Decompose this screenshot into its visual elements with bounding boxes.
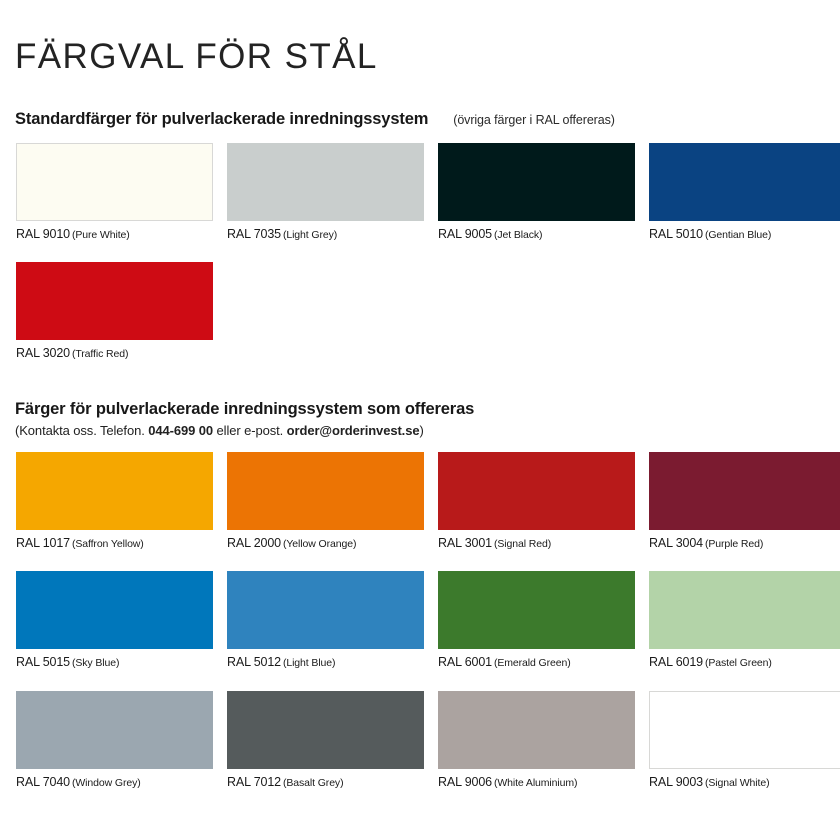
swatch-color-name: (Window Grey): [72, 777, 141, 789]
swatch-label: RAL 7035(Light Grey): [227, 225, 424, 243]
swatch-color-name: (Signal White): [705, 777, 770, 789]
swatch-code: RAL 5010: [649, 227, 703, 241]
swatch-cell[interactable]: RAL 3004(Purple Red): [649, 452, 840, 552]
color-swatch[interactable]: [16, 571, 213, 649]
color-swatch[interactable]: [649, 452, 840, 530]
swatch-cell[interactable]: RAL 6019(Pastel Green): [649, 571, 840, 671]
swatch-code: RAL 9005: [438, 227, 492, 241]
color-chart-page: FÄRGVAL FÖR STÅL Standardfärger för pulv…: [0, 0, 840, 840]
swatch-label: RAL 7040(Window Grey): [16, 773, 213, 791]
swatch-color-name: (Yellow Orange): [283, 538, 356, 550]
swatch-label: RAL 7012(Basalt Grey): [227, 773, 424, 791]
page-title: FÄRGVAL FÖR STÅL: [12, 0, 828, 77]
swatch-cell[interactable]: RAL 1017(Saffron Yellow): [16, 452, 213, 552]
swatch-cell[interactable]: RAL 3001(Signal Red): [438, 452, 635, 552]
swatch-label: RAL 5012(Light Blue): [227, 653, 424, 671]
swatch-label: RAL 9006(White Aluminium): [438, 773, 635, 791]
swatch-color-name: (Light Blue): [283, 657, 336, 669]
color-swatch[interactable]: [16, 262, 213, 340]
swatch-cell[interactable]: RAL 5015(Sky Blue): [16, 571, 213, 671]
standard-section-header: Standardfärger för pulverlackerade inred…: [15, 110, 828, 129]
swatch-color-name: (Sky Blue): [72, 657, 119, 669]
color-swatch[interactable]: [438, 571, 635, 649]
swatch-cell[interactable]: RAL 3020(Traffic Red): [16, 262, 213, 362]
swatch-label: RAL 2000(Yellow Orange): [227, 534, 424, 552]
swatch-cell[interactable]: RAL 7035(Light Grey): [227, 143, 424, 243]
contact-phone[interactable]: 044-699 00: [148, 423, 213, 438]
contact-middle-text: eller e-post.: [217, 423, 284, 438]
color-swatch[interactable]: [16, 691, 213, 769]
color-swatch[interactable]: [438, 452, 635, 530]
contact-line: (Kontakta oss. Telefon. 044-699 00 eller…: [15, 423, 828, 438]
color-swatch[interactable]: [649, 571, 840, 649]
swatch-color-name: (Basalt Grey): [283, 777, 344, 789]
standard-section-title: Standardfärger för pulverlackerade inred…: [15, 110, 428, 129]
color-swatch[interactable]: [227, 691, 424, 769]
swatch-cell[interactable]: RAL 9006(White Aluminium): [438, 691, 635, 791]
swatch-cell[interactable]: RAL 2000(Yellow Orange): [227, 452, 424, 552]
color-swatch[interactable]: [649, 691, 840, 769]
swatch-color-name: (Jet Black): [494, 229, 543, 241]
swatch-code: RAL 7040: [16, 775, 70, 789]
swatch-cell[interactable]: RAL 5010(Gentian Blue): [649, 143, 840, 243]
swatch-color-name: (Saffron Yellow): [72, 538, 144, 550]
swatch-cell[interactable]: RAL 9003(Signal White): [649, 691, 840, 791]
swatch-label: RAL 1017(Saffron Yellow): [16, 534, 213, 552]
swatch-label: RAL 5015(Sky Blue): [16, 653, 213, 671]
swatch-label: RAL 3001(Signal Red): [438, 534, 635, 552]
swatch-label: RAL 6001(Emerald Green): [438, 653, 635, 671]
swatch-code: RAL 6019: [649, 655, 703, 669]
swatch-cell[interactable]: RAL 9005(Jet Black): [438, 143, 635, 243]
swatch-color-name: (Light Grey): [283, 229, 337, 241]
swatch-cell[interactable]: RAL 5012(Light Blue): [227, 571, 424, 671]
swatch-code: RAL 3001: [438, 536, 492, 550]
swatch-cell[interactable]: RAL 7012(Basalt Grey): [227, 691, 424, 791]
swatch-code: RAL 9006: [438, 775, 492, 789]
swatch-color-name: (Signal Red): [494, 538, 551, 550]
color-swatch[interactable]: [438, 691, 635, 769]
swatch-code: RAL 7035: [227, 227, 281, 241]
swatch-code: RAL 5015: [16, 655, 70, 669]
contact-email[interactable]: order@orderinvest.se: [287, 423, 420, 438]
swatch-color-name: (Pastel Green): [705, 657, 772, 669]
color-swatch[interactable]: [649, 143, 840, 221]
swatch-label: RAL 9010(Pure White): [16, 225, 213, 243]
swatch-label: RAL 9005(Jet Black): [438, 225, 635, 243]
color-swatch[interactable]: [16, 143, 213, 221]
swatch-label: RAL 3004(Purple Red): [649, 534, 840, 552]
color-swatch[interactable]: [438, 143, 635, 221]
swatch-color-name: (Traffic Red): [72, 348, 128, 360]
swatch-code: RAL 6001: [438, 655, 492, 669]
swatch-color-name: (Emerald Green): [494, 657, 571, 669]
offered-swatch-grid: RAL 1017(Saffron Yellow)RAL 2000(Yellow …: [15, 452, 828, 791]
swatch-code: RAL 7012: [227, 775, 281, 789]
swatch-color-name: (Purple Red): [705, 538, 763, 550]
swatch-cell[interactable]: RAL 6001(Emerald Green): [438, 571, 635, 671]
color-swatch[interactable]: [227, 452, 424, 530]
color-swatch[interactable]: [227, 571, 424, 649]
color-swatch[interactable]: [227, 143, 424, 221]
swatch-code: RAL 3004: [649, 536, 703, 550]
contact-lead-text: Kontakta oss. Telefon.: [19, 423, 144, 438]
swatch-label: RAL 5010(Gentian Blue): [649, 225, 840, 243]
swatch-color-name: (Gentian Blue): [705, 229, 771, 241]
swatch-code: RAL 1017: [16, 536, 70, 550]
swatch-code: RAL 9003: [649, 775, 703, 789]
swatch-color-name: (White Aluminium): [494, 777, 578, 789]
standard-colors-section: Standardfärger för pulverlackerade inred…: [12, 110, 828, 362]
swatch-cell[interactable]: RAL 9010(Pure White): [16, 143, 213, 243]
contact-close-paren: ): [419, 423, 423, 438]
color-swatch[interactable]: [16, 452, 213, 530]
swatch-code: RAL 3020: [16, 346, 70, 360]
swatch-label: RAL 9003(Signal White): [649, 773, 840, 791]
swatch-color-name: (Pure White): [72, 229, 130, 241]
offered-colors-section: Färger för pulverlackerade inredningssys…: [12, 400, 828, 791]
offered-section-header: Färger för pulverlackerade inredningssys…: [15, 400, 828, 419]
offered-section-title: Färger för pulverlackerade inredningssys…: [15, 400, 474, 419]
swatch-code: RAL 2000: [227, 536, 281, 550]
swatch-cell[interactable]: RAL 7040(Window Grey): [16, 691, 213, 791]
standard-section-note: (övriga färger i RAL offereras): [453, 113, 615, 127]
swatch-label: RAL 3020(Traffic Red): [16, 344, 213, 362]
swatch-label: RAL 6019(Pastel Green): [649, 653, 840, 671]
swatch-code: RAL 9010: [16, 227, 70, 241]
swatch-code: RAL 5012: [227, 655, 281, 669]
standard-swatch-grid: RAL 9010(Pure White)RAL 7035(Light Grey)…: [15, 143, 828, 362]
